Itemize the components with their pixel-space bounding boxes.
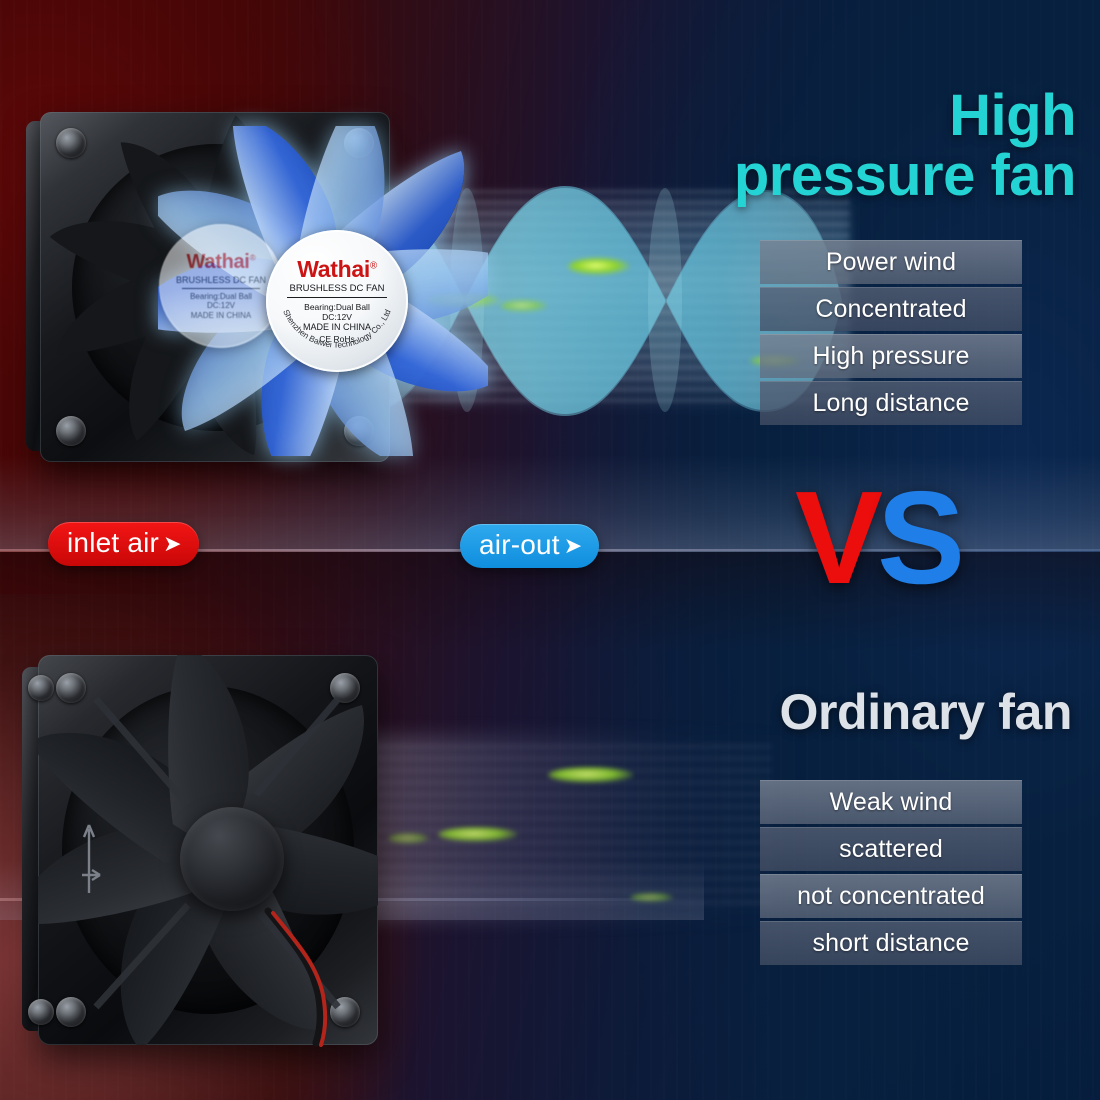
feature-badge: short distance xyxy=(760,921,1022,965)
callout-air-out: air-out ➤ xyxy=(460,524,599,568)
rear-fan-hub-label: Wathai® BRUSHLESS DC FAN Bearing:Dual Ba… xyxy=(159,224,283,348)
versus-letter-v: V xyxy=(795,464,877,611)
feature-badge: Concentrated xyxy=(760,287,1022,331)
feature-badge: High pressure xyxy=(760,334,1022,378)
arrow-right-icon: ➤ xyxy=(564,535,583,557)
ordinary-fan xyxy=(38,655,378,1045)
feature-badge: Weak wind xyxy=(760,780,1022,824)
inlet-air-label: inlet air xyxy=(67,527,159,559)
page-title-ordinary: Ordinary fan xyxy=(552,686,1072,738)
heading-line-2: pressure fan xyxy=(556,146,1076,206)
hub-voltage-text: DC:12V xyxy=(207,301,235,310)
versus-badge: VS xyxy=(795,472,959,604)
power-wire xyxy=(262,907,372,1047)
air-particle xyxy=(500,300,548,312)
heading-line-1: High xyxy=(556,86,1076,146)
infographic-canvas: Wathai® BRUSHLESS DC FAN Bearing:Dual Ba… xyxy=(0,0,1100,1100)
hub-origin-text: MADE IN CHINA xyxy=(191,311,251,320)
airflow-stream-ordinary xyxy=(330,735,810,920)
fan-hub xyxy=(180,807,284,911)
air-out-label: air-out xyxy=(479,529,560,561)
fan-hub-label: Wathai® BRUSHLESS DC FAN Bearing:Dual Ba… xyxy=(266,230,408,372)
feature-badge: scattered xyxy=(760,827,1022,871)
hub-divider xyxy=(182,288,260,289)
feature-badge: not concentrated xyxy=(760,874,1022,918)
hub-bearing-text: Bearing:Dual Ball xyxy=(190,292,252,301)
arrow-right-icon: ➤ xyxy=(163,533,182,555)
feature-list-ordinary: Weak wind scattered not concentrated sho… xyxy=(760,780,1022,965)
feature-badge: Power wind xyxy=(760,240,1022,284)
airflow-direction-arrow-icon xyxy=(78,815,104,903)
air-particle xyxy=(438,827,518,842)
air-particle xyxy=(568,258,630,275)
hub-brand-text: Wathai xyxy=(187,251,250,273)
airflow-stripes xyxy=(330,745,772,905)
hub-type-text: BRUSHLESS DC FAN xyxy=(176,275,266,286)
high-pressure-fan: Wathai® BRUSHLESS DC FAN Bearing:Dual Ba… xyxy=(40,112,390,462)
hub-company-text: Shenzhen Baiwei Technology Co., Ltd xyxy=(281,308,393,350)
page-title-high-pressure: High pressure fan xyxy=(556,86,1076,207)
versus-letter-s: S xyxy=(877,464,959,611)
feature-list-high-pressure: Power wind Concentrated High pressure Lo… xyxy=(760,240,1022,425)
callout-inlet-air: inlet air ➤ xyxy=(48,522,199,566)
air-particle xyxy=(388,833,430,844)
air-particle xyxy=(630,893,674,902)
feature-badge: Long distance xyxy=(760,381,1022,425)
svg-text:Shenzhen Baiwei Technology Co.: Shenzhen Baiwei Technology Co., Ltd xyxy=(281,308,393,350)
hub-company-arc: Shenzhen Baiwei Technology Co., Ltd xyxy=(266,230,408,372)
air-particle xyxy=(548,767,634,783)
trademark-symbol: ® xyxy=(250,252,256,262)
